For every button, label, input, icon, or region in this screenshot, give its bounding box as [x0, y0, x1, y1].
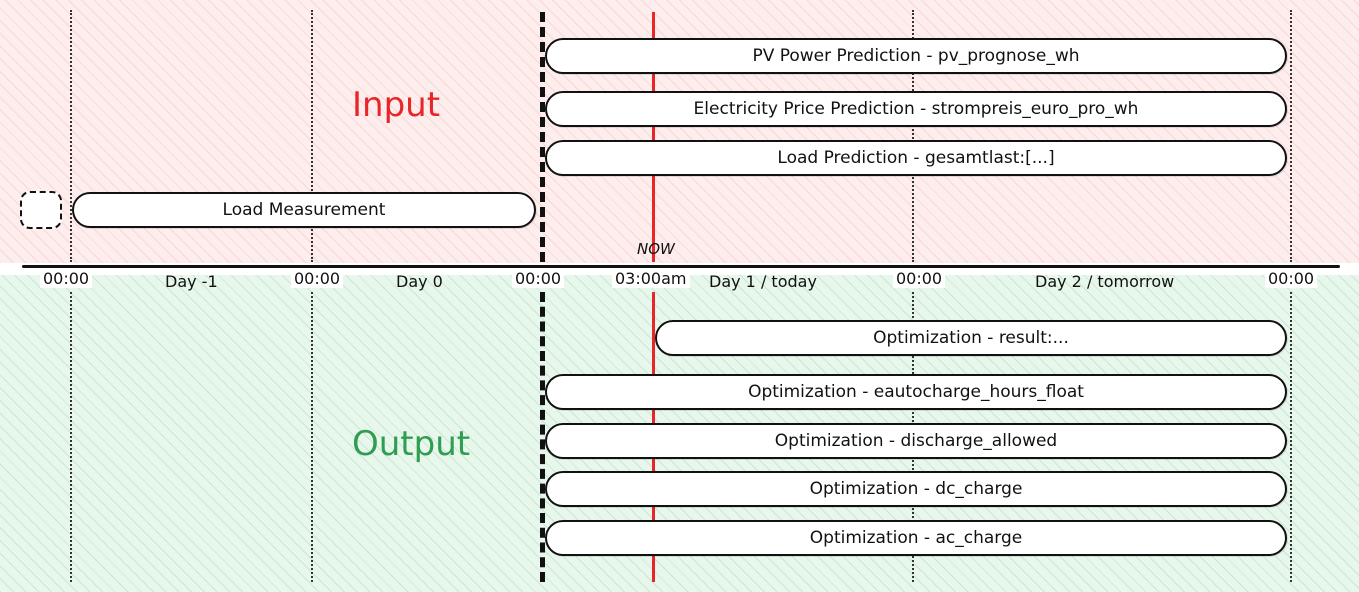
today-boundary-line-upper [540, 12, 545, 262]
now-marker-label: NOW [637, 240, 675, 258]
input-bar-pv-power-prediction[interactable]: PV Power Prediction - pv_prognose_wh [545, 38, 1287, 74]
gridline-day-0-start-lower [311, 292, 313, 582]
gridline-day-1-start [70, 10, 72, 262]
axis-tick-label: 00:00 [1265, 269, 1317, 288]
input-bar-electricity-price-prediction[interactable]: Electricity Price Prediction - stromprei… [545, 91, 1287, 127]
input-bar-load-measurement-history-stub [20, 191, 62, 229]
output-bar-dc-charge[interactable]: Optimization - dc_charge [545, 471, 1287, 507]
axis-tick-label: 00:00 [40, 269, 92, 288]
gridline-day-2-end-lower [1290, 292, 1292, 582]
axis-day-label: Day -1 [165, 272, 218, 291]
gridline-day-1-start-lower [70, 292, 72, 582]
output-bar-ac-charge[interactable]: Optimization - ac_charge [545, 520, 1287, 556]
axis-day-label: Day 2 / tomorrow [1035, 272, 1174, 291]
diagram-canvas: Input Output NOW 00:00 00:00 00:00 03:00… [0, 0, 1359, 592]
axis-day-label: Day 1 / today [709, 272, 817, 291]
output-bar-optimization-result[interactable]: Optimization - result:... [655, 320, 1287, 356]
input-section-title: Input [352, 85, 440, 125]
axis-tick-label-now: 03:00am [612, 269, 690, 288]
output-bar-eautocharge-hours-float[interactable]: Optimization - eautocharge_hours_float [545, 374, 1287, 410]
output-bar-discharge-allowed[interactable]: Optimization - discharge_allowed [545, 423, 1287, 459]
axis-tick-label: 00:00 [512, 269, 564, 288]
input-bar-load-measurement[interactable]: Load Measurement [72, 192, 536, 228]
axis-tick-label: 00:00 [893, 269, 945, 288]
axis-day-label: Day 0 [396, 272, 443, 291]
input-bar-load-prediction[interactable]: Load Prediction - gesamtlast:[...] [545, 140, 1287, 176]
output-section-title: Output [352, 424, 470, 464]
gridline-day-2-end [1290, 10, 1292, 262]
timeline-axis [22, 265, 1340, 268]
axis-tick-label: 00:00 [291, 269, 343, 288]
